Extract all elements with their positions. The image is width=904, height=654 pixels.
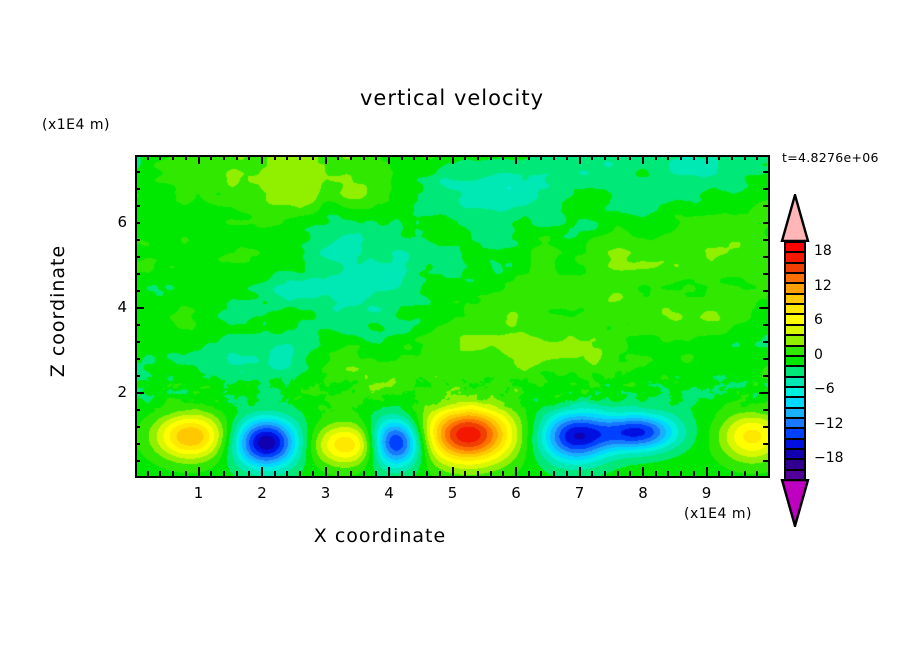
x-tick <box>756 471 758 476</box>
x-tick-top <box>540 155 542 160</box>
x-tick <box>337 471 339 476</box>
x-tick <box>388 467 390 476</box>
x-tick <box>312 471 314 476</box>
x-tick <box>706 467 708 476</box>
colorbar-band-separator <box>784 313 806 315</box>
colorbar-band-separator <box>784 355 806 357</box>
colorbar-band-separator <box>784 293 806 295</box>
x-tick-top <box>350 155 352 160</box>
colorbar-tick-label: 18 <box>814 243 832 259</box>
x-tick-top <box>629 155 631 160</box>
x-tick <box>693 471 695 476</box>
colorbar-band-separator <box>784 345 806 347</box>
x-tick-top <box>248 155 250 160</box>
x-tick <box>401 471 403 476</box>
colorbar-under-arrow <box>780 479 810 527</box>
x-tick-label: 1 <box>179 484 219 502</box>
x-tick <box>185 471 187 476</box>
x-tick <box>680 471 682 476</box>
y-tick <box>135 460 140 462</box>
x-tick <box>528 471 530 476</box>
x-axis-label: X coordinate <box>0 525 760 547</box>
x-tick-top <box>667 155 669 160</box>
x-tick-top <box>756 155 758 160</box>
x-tick-top <box>744 155 746 160</box>
x-tick <box>236 471 238 476</box>
x-tick-label: 4 <box>369 484 409 502</box>
y-tick-right <box>763 426 768 428</box>
x-tick <box>667 471 669 476</box>
colorbar-tick-label: −18 <box>814 450 844 466</box>
x-tick-top <box>553 155 555 160</box>
y-tick <box>135 324 140 326</box>
x-tick-top <box>413 155 415 160</box>
x-tick-top <box>490 155 492 160</box>
colorbar-band-separator <box>784 417 806 419</box>
x-tick-top <box>604 155 606 160</box>
y-tick <box>135 290 140 292</box>
y-tick-label: 4 <box>97 298 127 316</box>
x-tick <box>540 471 542 476</box>
y-tick <box>135 205 140 207</box>
x-tick <box>375 471 377 476</box>
x-tick-label: 5 <box>433 484 473 502</box>
x-tick <box>604 471 606 476</box>
x-tick <box>566 471 568 476</box>
y-tick-right <box>763 222 768 224</box>
y-tick-right <box>763 205 768 207</box>
y-tick-right <box>763 324 768 326</box>
x-tick-top <box>617 155 619 160</box>
y-tick <box>135 358 140 360</box>
x-tick-label: 6 <box>496 484 536 502</box>
y-tick-right <box>763 460 768 462</box>
x-tick-top <box>223 155 225 160</box>
x-tick-top <box>299 155 301 160</box>
x-tick <box>553 471 555 476</box>
colorbar-tick-label: 12 <box>814 278 832 294</box>
y-tick-right <box>763 188 768 190</box>
x-tick <box>490 471 492 476</box>
x-tick-top <box>502 155 504 160</box>
x-tick <box>350 471 352 476</box>
x-tick <box>261 467 263 476</box>
x-tick-top <box>337 155 339 160</box>
x-tick <box>642 467 644 476</box>
x-tick <box>198 467 200 476</box>
x-tick-top <box>198 155 200 164</box>
x-tick-label: 2 <box>242 484 282 502</box>
y-tick <box>135 375 140 377</box>
y-tick <box>135 392 144 394</box>
colorbar-band-separator <box>784 438 806 440</box>
x-tick-top <box>426 155 428 160</box>
x-tick-top <box>159 155 161 160</box>
y-tick <box>135 171 140 173</box>
contour-field-canvas <box>137 157 768 476</box>
chart-title: vertical velocity <box>0 86 904 110</box>
x-tick-top <box>325 155 327 164</box>
y-tick-right <box>763 273 768 275</box>
colorbar-tick-label: 6 <box>814 312 823 328</box>
x-tick <box>579 467 581 476</box>
x-tick-top <box>452 155 454 164</box>
colorbar-band-separator <box>784 396 806 398</box>
x-tick-top <box>706 155 708 164</box>
x-tick <box>248 471 250 476</box>
x-tick-top <box>261 155 263 164</box>
y-tick <box>135 409 140 411</box>
x-tick <box>325 467 327 476</box>
x-tick-label: 7 <box>560 484 600 502</box>
y-tick-right <box>763 171 768 173</box>
x-tick <box>591 471 593 476</box>
x-tick-top <box>236 155 238 160</box>
colorbar-band-separator <box>784 458 806 460</box>
x-tick-top <box>528 155 530 160</box>
x-tick <box>299 471 301 476</box>
y-tick <box>135 307 144 309</box>
x-tick-label: 8 <box>623 484 663 502</box>
y-tick <box>135 426 140 428</box>
timestamp-annotation: t=4.8276e+06 <box>782 150 879 165</box>
y-axis-label: Z coordinate <box>47 201 69 421</box>
colorbar-band-separator <box>784 272 806 274</box>
colorbar-band-separator <box>784 448 806 450</box>
x-tick <box>502 471 504 476</box>
colorbar-over-arrow <box>780 194 810 242</box>
colorbar-band-separator <box>784 334 806 336</box>
x-tick-top <box>274 155 276 160</box>
x-tick-top <box>642 155 644 164</box>
colorbar-band-separator <box>784 262 806 264</box>
colorbar-band-separator <box>784 376 806 378</box>
colorbar-tick-label: −6 <box>814 381 835 397</box>
x-tick <box>413 471 415 476</box>
x-tick-top <box>591 155 593 160</box>
x-tick-top <box>680 155 682 160</box>
x-tick <box>744 471 746 476</box>
x-tick <box>274 471 276 476</box>
colorbar-tick-label: 0 <box>814 347 823 363</box>
y-tick <box>135 341 140 343</box>
y-tick <box>135 222 140 224</box>
colorbar-band-separator <box>784 365 806 367</box>
x-tick <box>210 471 212 476</box>
y-tick-right <box>763 409 768 411</box>
x-tick <box>147 471 149 476</box>
x-tick-top <box>477 155 479 160</box>
colorbar: 181260−6−12−18 <box>776 196 816 522</box>
x-tick-top <box>375 155 377 160</box>
x-tick-top <box>579 155 581 164</box>
x-tick-top <box>147 155 149 160</box>
x-tick-top <box>718 155 720 160</box>
y-tick-right <box>763 375 768 377</box>
x-tick-top <box>464 155 466 160</box>
x-tick-label: 9 <box>687 484 727 502</box>
y-tick-label: 6 <box>97 213 127 231</box>
x-tick <box>223 471 225 476</box>
x-tick <box>363 471 365 476</box>
x-tick-top <box>439 155 441 160</box>
colorbar-band-separator <box>784 386 806 388</box>
colorbar-tick-label: −12 <box>814 416 844 432</box>
y-tick-right <box>759 307 768 309</box>
z-axis-units: (x1E4 m) <box>42 117 110 133</box>
y-tick <box>135 443 140 445</box>
x-axis-units: (x1E4 m) <box>684 506 752 522</box>
y-tick <box>135 256 140 258</box>
y-tick-right <box>763 239 768 241</box>
x-tick-top <box>363 155 365 160</box>
colorbar-band-separator <box>784 469 806 471</box>
x-tick-top <box>185 155 187 160</box>
y-tick-right <box>763 341 768 343</box>
x-tick <box>629 471 631 476</box>
x-tick-top <box>388 155 390 164</box>
x-tick <box>172 471 174 476</box>
x-tick <box>426 471 428 476</box>
x-tick <box>286 471 288 476</box>
x-tick-top <box>210 155 212 160</box>
x-tick <box>477 471 479 476</box>
x-tick-top <box>286 155 288 160</box>
x-tick-top <box>515 155 517 164</box>
x-tick <box>655 471 657 476</box>
colorbar-band-separator <box>784 282 806 284</box>
y-tick-right <box>763 358 768 360</box>
contour-plot-area <box>135 155 770 478</box>
x-tick-top <box>731 155 733 160</box>
x-tick-top <box>312 155 314 160</box>
x-tick-label: 3 <box>306 484 346 502</box>
x-tick-top <box>693 155 695 160</box>
y-tick-right <box>763 290 768 292</box>
x-tick <box>439 471 441 476</box>
colorbar-band-separator <box>784 251 806 253</box>
y-tick <box>135 188 140 190</box>
x-tick <box>159 471 161 476</box>
y-tick-right <box>763 256 768 258</box>
x-tick-top <box>172 155 174 160</box>
x-tick <box>718 471 720 476</box>
y-tick-right <box>763 443 768 445</box>
colorbar-band-separator <box>784 407 806 409</box>
x-tick <box>617 471 619 476</box>
y-tick <box>135 239 140 241</box>
y-tick-right <box>759 392 768 394</box>
x-tick <box>452 467 454 476</box>
x-tick-top <box>401 155 403 160</box>
colorbar-band-separator <box>784 427 806 429</box>
x-tick-top <box>655 155 657 160</box>
y-tick <box>135 273 140 275</box>
colorbar-band-separator <box>784 303 806 305</box>
y-tick-label: 2 <box>97 383 127 401</box>
x-tick-top <box>566 155 568 160</box>
x-tick <box>731 471 733 476</box>
x-tick <box>464 471 466 476</box>
colorbar-band-separator <box>784 324 806 326</box>
x-tick <box>515 467 517 476</box>
